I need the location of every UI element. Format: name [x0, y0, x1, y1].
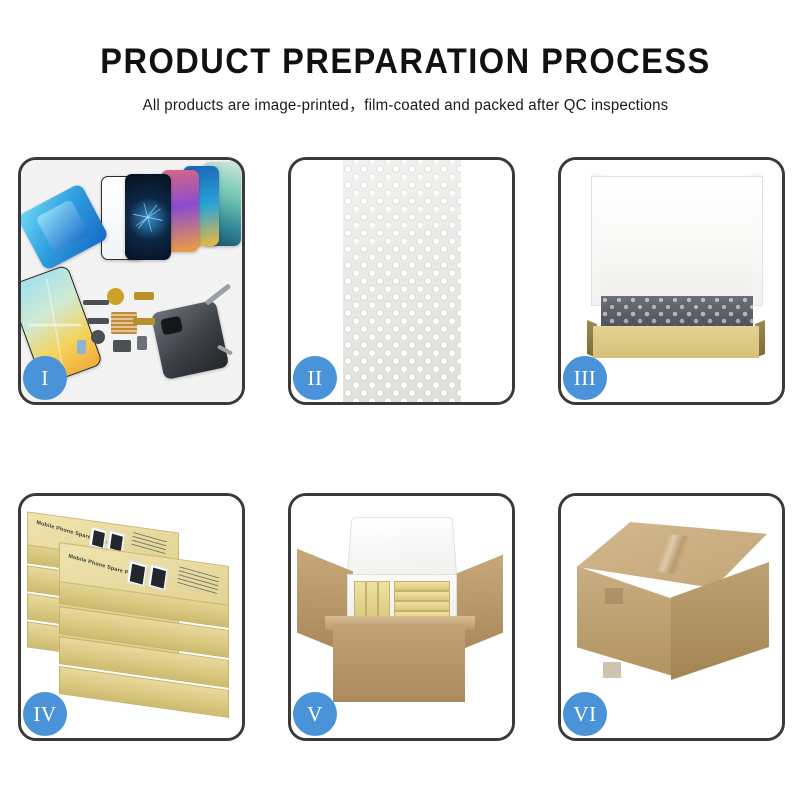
carton-tape-lower: [603, 662, 621, 678]
page-title: PRODUCT PREPARATION PROCESS: [28, 44, 782, 81]
process-step-1: I: [18, 157, 245, 405]
box-label-image-d: [147, 564, 168, 591]
process-step-6: VI: [558, 493, 785, 741]
cracked-screen: [125, 174, 171, 260]
gold-box-3: [378, 581, 390, 621]
step-badge-6: VI: [563, 692, 607, 736]
box-label-image-c: [126, 560, 147, 587]
gold-box-1: [354, 581, 366, 621]
vibrator-motor: [113, 340, 131, 352]
phone-back-housing: [151, 300, 230, 380]
foam-box-lid: [346, 517, 457, 582]
gold-box-2: [366, 581, 378, 621]
gold-box-6: [394, 601, 450, 611]
connector-a: [87, 318, 109, 324]
camera-module: [91, 330, 105, 344]
box-label-text-lines-b: [177, 566, 219, 597]
process-step-5: V: [288, 493, 515, 741]
step-badge-4: IV: [23, 692, 67, 736]
step-badge-2: II: [293, 356, 337, 400]
earpiece-mesh: [83, 300, 109, 305]
blue-film: [21, 183, 109, 272]
step-badge-5: V: [293, 692, 337, 736]
gold-box-4: [394, 581, 450, 591]
gold-box-5: [394, 591, 450, 601]
step-badge-1: I: [23, 356, 67, 400]
box-front-panel: [593, 326, 759, 358]
page-header: PRODUCT PREPARATION PROCESS All products…: [0, 0, 811, 115]
battery-connector: [137, 336, 147, 350]
sim-tray: [77, 340, 86, 354]
process-step-2: II: [288, 157, 515, 405]
carton-front: [333, 624, 465, 702]
tweezers: [205, 283, 232, 305]
carton-left-face: [577, 566, 673, 676]
white-foam-sheet: [601, 214, 751, 298]
flex-cable-a: [134, 292, 154, 300]
bubble-wrap-bag: [343, 160, 461, 402]
process-step-4: Mobile Phone Spare Parts Mobile Phone Sp…: [18, 493, 245, 741]
bubble-texture: [343, 160, 461, 402]
speaker-coil: [107, 288, 124, 305]
page-subtitle: All products are image-printed，film-coat…: [12, 93, 799, 115]
flex-cable-b: [133, 318, 155, 325]
process-step-3: III: [558, 157, 785, 405]
carton-tape-upper: [605, 588, 623, 604]
process-steps-grid: I II: [18, 157, 786, 741]
step-badge-3: III: [563, 356, 607, 400]
